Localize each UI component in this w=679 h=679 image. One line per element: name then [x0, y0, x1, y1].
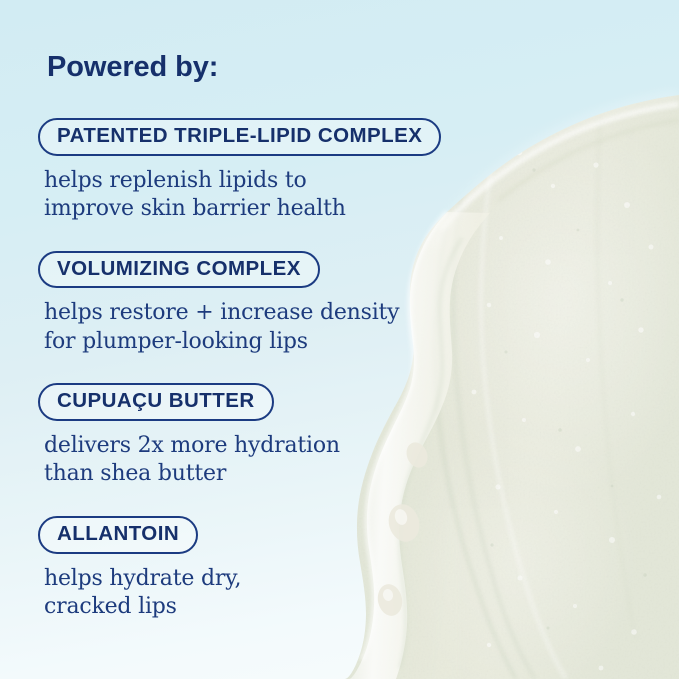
ingredient-list: PATENTED TRIPLE-LIPID COMPLEX helps repl…	[0, 118, 500, 622]
product-benefits-poster: Powered by: PATENTED TRIPLE-LIPID COMPLE…	[0, 0, 679, 679]
ingredient-description: helps hydrate dry, cracked lips	[44, 565, 500, 622]
ingredient-badge-cupuacu-butter: CUPUAÇU BUTTER	[38, 383, 274, 421]
ingredient-description: delivers 2x more hydration than shea but…	[44, 432, 500, 489]
ingredient-description: helps restore + increase density for plu…	[44, 299, 500, 356]
ingredient-item: ALLANTOIN helps hydrate dry, cracked lip…	[0, 516, 500, 622]
ingredient-item: PATENTED TRIPLE-LIPID COMPLEX helps repl…	[0, 118, 500, 224]
ingredient-description: helps replenish lipids to improve skin b…	[44, 167, 500, 224]
ingredient-badge-volumizing-complex: VOLUMIZING COMPLEX	[38, 251, 320, 289]
benefits-content: Powered by: PATENTED TRIPLE-LIPID COMPLE…	[0, 0, 500, 679]
page-title: Powered by:	[47, 52, 218, 84]
ingredient-item: CUPUAÇU BUTTER delivers 2x more hydratio…	[0, 383, 500, 489]
ingredient-badge-patented-triple-lipid-complex: PATENTED TRIPLE-LIPID COMPLEX	[38, 118, 441, 156]
ingredient-item: VOLUMIZING COMPLEX helps restore + incre…	[0, 251, 500, 357]
ingredient-badge-allantoin: ALLANTOIN	[38, 516, 198, 554]
